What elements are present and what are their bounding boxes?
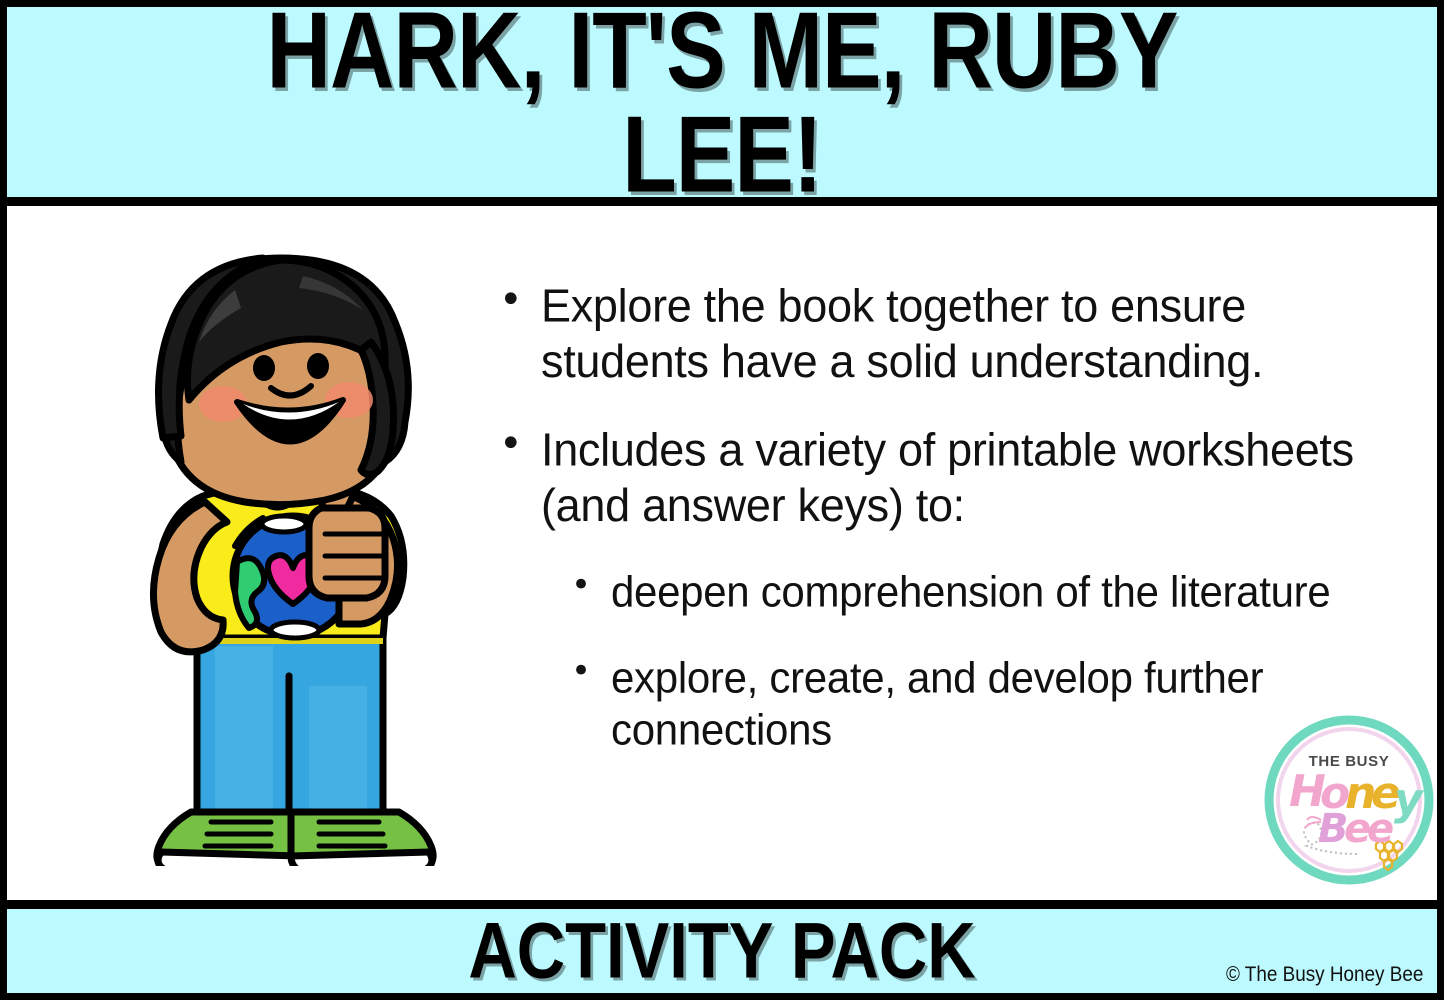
footer-banner: ACTIVITY PACK © The Busy Honey Bee — [0, 900, 1444, 1000]
footer-title: ACTIVITY PACK — [57, 905, 1387, 997]
svg-text:y: y — [1394, 774, 1425, 825]
page-title: HARK, IT'S ME, RUBY LEE! — [225, 0, 1219, 206]
list-item: • deepen comprehension of the literature — [571, 566, 1379, 616]
list-item-text: deepen comprehension of the literature — [611, 566, 1330, 618]
busy-honey-bee-logo-icon: THE BUSY H o n e y B e e — [1263, 714, 1435, 886]
feature-bullet-list: • Explore the book together to ensure st… — [499, 278, 1379, 787]
girl-thumbs-up-character-icon — [85, 246, 445, 866]
poster-page: HARK, IT'S ME, RUBY LEE! — [0, 0, 1444, 1000]
bullet-marker-icon: • — [571, 652, 611, 690]
bullet-marker-icon: • — [499, 422, 541, 467]
list-item: • explore, create, and develop further c… — [571, 652, 1379, 751]
copyright-text: © The Busy Honey Bee — [1226, 963, 1423, 987]
list-item-text: Includes a variety of printable workshee… — [541, 422, 1379, 532]
svg-text:e: e — [1367, 806, 1394, 852]
list-item: • Includes a variety of printable worksh… — [499, 422, 1379, 528]
bullet-marker-icon: • — [499, 278, 541, 323]
list-item: • Explore the book together to ensure st… — [499, 278, 1379, 384]
main-content-area: • Explore the book together to ensure st… — [0, 206, 1444, 900]
bullet-marker-icon: • — [571, 566, 611, 604]
header-banner: HARK, IT'S ME, RUBY LEE! — [0, 0, 1444, 206]
list-item-text: Explore the book together to ensure stud… — [541, 278, 1379, 388]
